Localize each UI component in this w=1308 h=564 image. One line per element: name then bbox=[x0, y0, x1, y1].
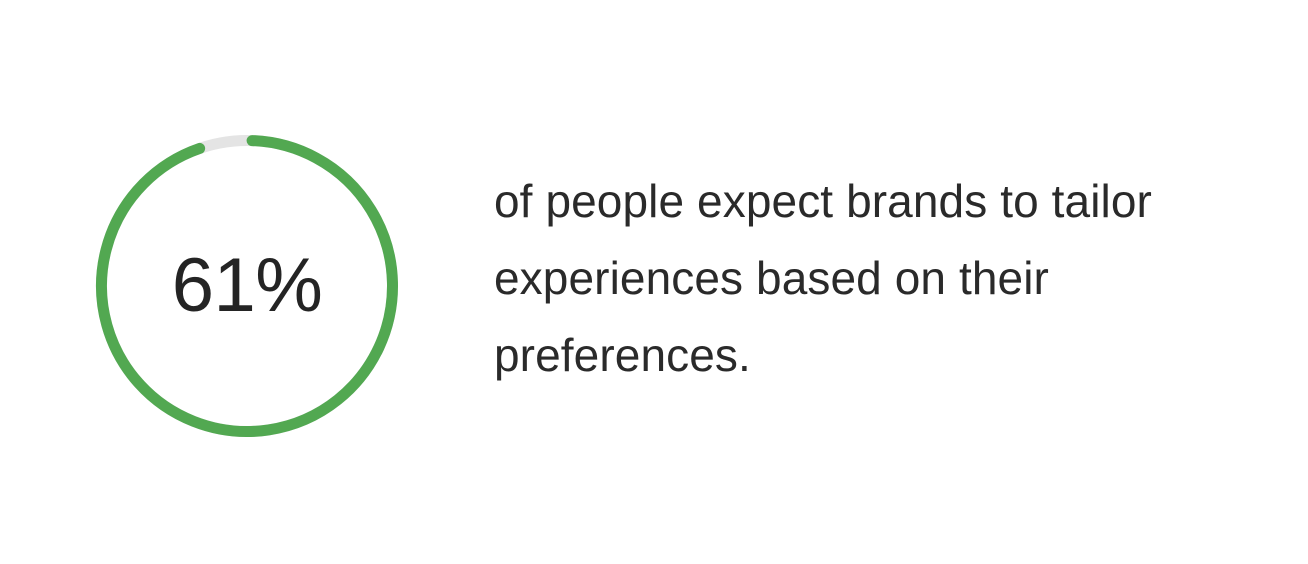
stat-caption-text: of people expect brands to tailor experi… bbox=[494, 175, 1152, 381]
personalization-stat-figure: 61% of people expect brands to tailor ex… bbox=[0, 0, 1308, 564]
stat-caption: of people expect brands to tailor experi… bbox=[494, 163, 1254, 394]
gauge-value-label: 61% bbox=[96, 135, 398, 437]
donut-gauge: 61% bbox=[96, 135, 398, 437]
